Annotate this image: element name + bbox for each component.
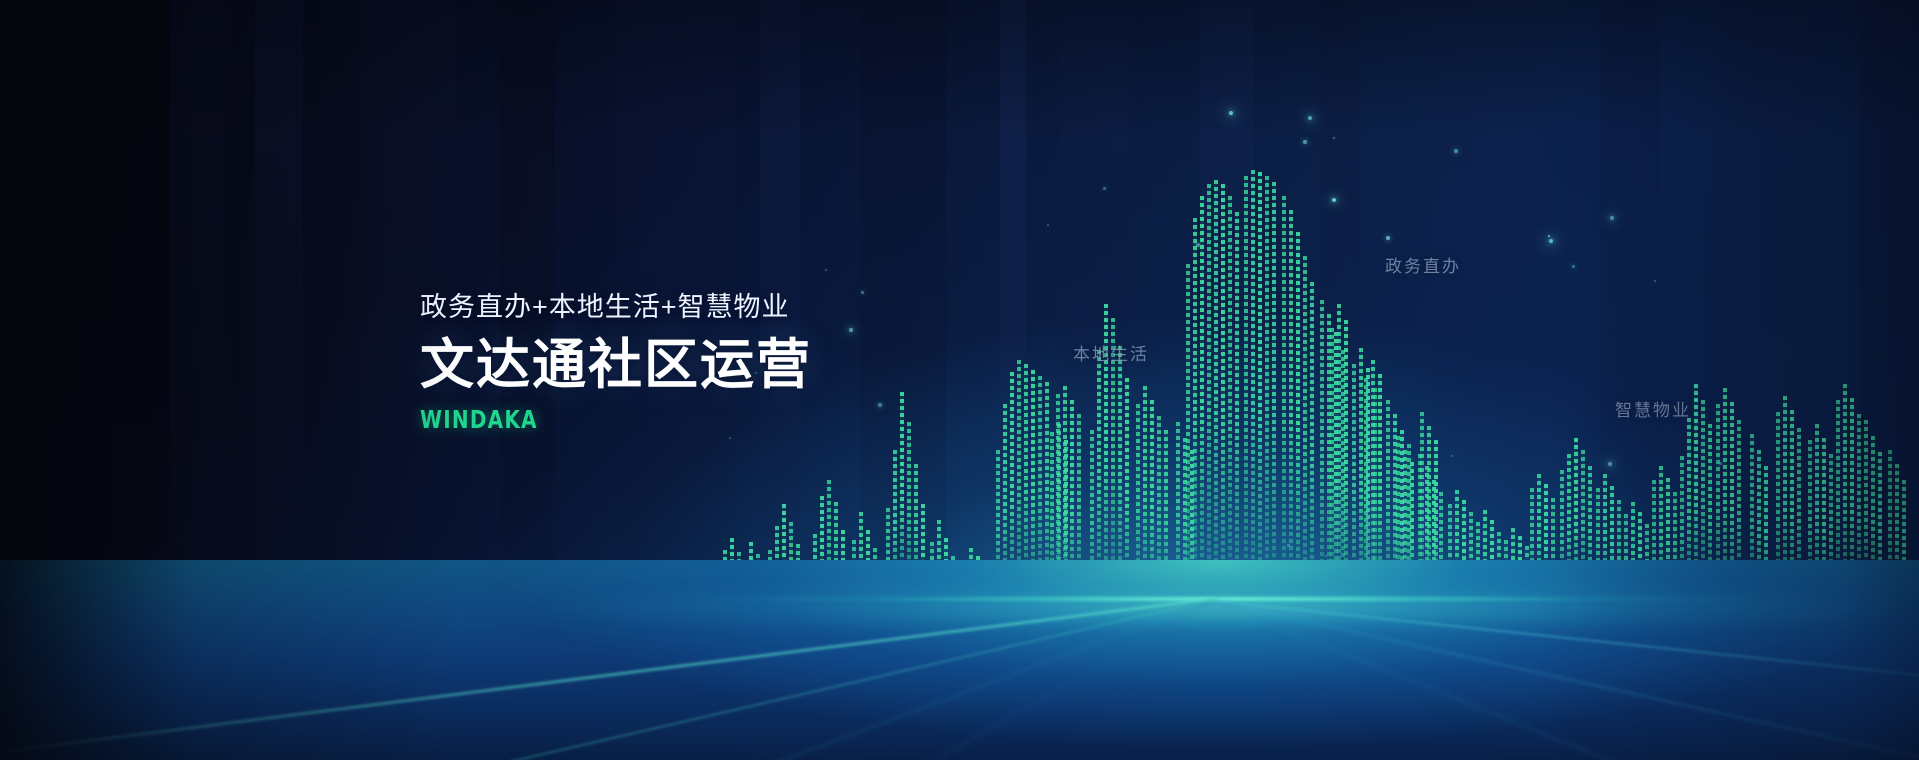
particle-dot [1325,555,1328,558]
banner-subtitle: 政务直办+本地生活+智慧物业 [420,294,812,321]
particle-dot [1196,243,1199,246]
particle-dot [849,328,852,331]
headline-block: 政务直办+本地生活+智慧物业 文达通社区运营 WINDAKA [420,294,812,432]
particle-dot [1333,137,1336,140]
city-label: 智慧物业 [1615,396,1691,421]
particle-dot [1103,187,1106,190]
banner-title: 文达通社区运营 [420,338,812,393]
particle-dot [1454,149,1458,153]
city-label: 政务直办 [1385,252,1461,277]
particle-dot [1608,462,1612,466]
particle-dot [1572,265,1575,268]
banner-root: 政务直办本地生活智慧物业 政务直办+本地生活+智慧物业 文达通社区运营 WIND… [0,0,1919,760]
particle-dot [1654,280,1657,283]
particle-dot [1308,116,1312,120]
particle-dot [1610,216,1613,219]
particle-dot [1719,462,1722,465]
particle-dot [1287,544,1290,547]
particle-dot [1386,236,1390,240]
particle-dot [729,437,732,440]
particle-field [0,0,1919,760]
particle-dot [1303,140,1306,143]
city-label: 本地生活 [1073,340,1149,365]
particle-dot [1047,224,1050,227]
particle-dot [1451,455,1454,458]
particle-dot [1783,515,1786,518]
particle-dot [825,269,828,272]
particle-dot [878,403,881,406]
particle-dot [861,291,864,294]
brand-wordmark: WINDAKA [420,407,734,432]
